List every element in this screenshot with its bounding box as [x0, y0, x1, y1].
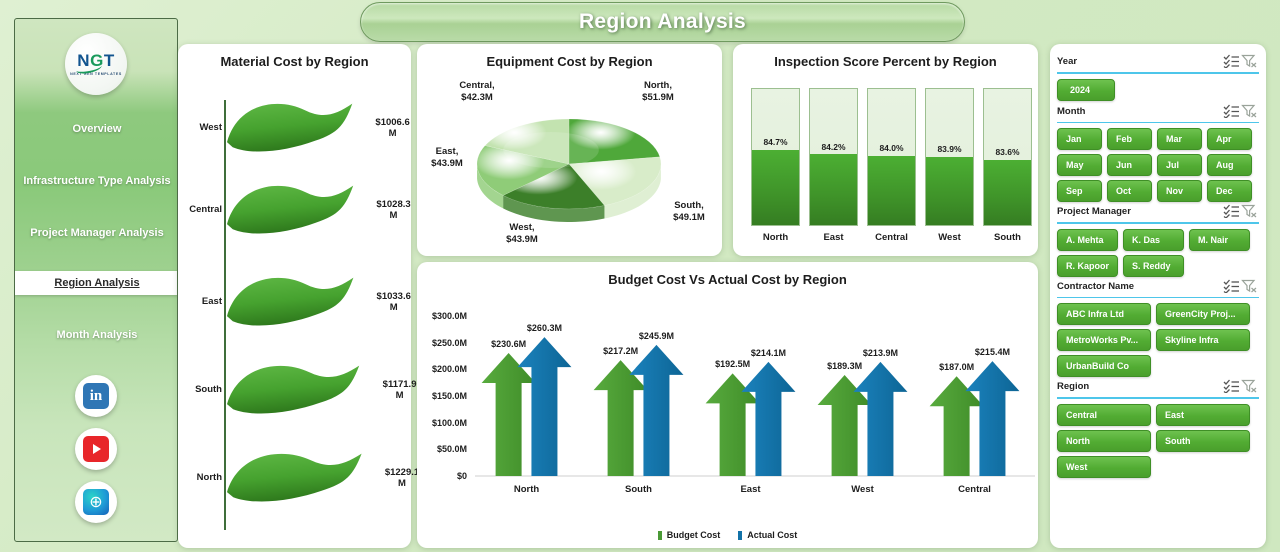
budget-category-label: East	[716, 484, 786, 495]
inspection-bar-fill	[926, 157, 973, 225]
multi-select-icon	[1223, 104, 1240, 118]
filter-header-contractor-name: Contractor Name	[1057, 279, 1259, 294]
filter-chip-nov[interactable]: Nov	[1157, 180, 1202, 202]
filter-title-year: Year	[1057, 56, 1223, 67]
material-region-label: East	[180, 296, 222, 307]
inspection-column: 84.2%East	[809, 88, 858, 243]
filter-header-year: Year	[1057, 54, 1259, 69]
clear-filter-icon[interactable]	[1241, 104, 1259, 119]
filter-chip-m-nair[interactable]: M. Nair	[1189, 229, 1250, 251]
inspection-category-label: East	[809, 232, 858, 243]
pie-label-south: South,$49.1M	[649, 200, 729, 224]
sidebar-item-infrastructure-type-analysis[interactable]: Infrastructure Type Analysis	[15, 171, 178, 191]
filter-chip-may[interactable]: May	[1057, 154, 1102, 176]
filter-chip-east[interactable]: East	[1156, 404, 1250, 426]
material-flag-shape	[225, 178, 355, 242]
budget-category-label: West	[828, 484, 898, 495]
material-region-label: West	[180, 122, 222, 133]
filter-chip-greencity-proj[interactable]: GreenCity Proj...	[1156, 303, 1250, 325]
pie-label-central: Central,$42.3M	[431, 80, 523, 104]
legend-item[interactable]: Budget Cost	[658, 530, 721, 540]
material-cost-card: Material Cost by Region West$1006.6MCent…	[178, 44, 411, 548]
material-cost-row: West$1006.6M	[178, 96, 411, 160]
budget-category-label: South	[604, 484, 674, 495]
inspection-value-label: 83.9%	[926, 144, 973, 154]
filter-divider	[1057, 72, 1259, 74]
pie-label-east: East,$43.9M	[411, 146, 483, 170]
clear-filter-icon[interactable]	[1241, 54, 1259, 69]
inspection-column: 84.0%Central	[867, 88, 916, 243]
inspection-category-label: West	[925, 232, 974, 243]
material-cost-row: South$1171.9M	[178, 358, 411, 422]
clear-filter-icon[interactable]	[1241, 279, 1259, 294]
filter-chip-a-mehta[interactable]: A. Mehta	[1057, 229, 1118, 251]
filter-chip-skyline-infra[interactable]: Skyline Infra	[1156, 329, 1250, 351]
budget-chart-legend: Budget CostActual Cost	[417, 530, 1038, 540]
inspection-category-label: North	[751, 232, 800, 243]
budget-arrow-bar	[741, 362, 795, 476]
sidebar-item-month-analysis[interactable]: Month Analysis	[15, 325, 178, 345]
equipment-pie-chart: North,$51.9MSouth,$49.1MWest,$43.9MEast,…	[417, 72, 722, 254]
material-region-label: North	[180, 472, 222, 483]
equipment-cost-card: Equipment Cost by Region North,$51.9MSou…	[417, 44, 722, 256]
material-cost-row: East$1033.6M	[178, 270, 411, 334]
budget-data-label: $260.3M	[509, 323, 579, 333]
budget-arrow-bar	[930, 376, 984, 476]
social-link-linkedin[interactable]: in	[75, 375, 117, 417]
material-cost-row: Central$1028.3M	[178, 178, 411, 242]
material-cost-title: Material Cost by Region	[178, 44, 411, 69]
budget-vs-actual-card: Budget Cost Vs Actual Cost by Region $0$…	[417, 262, 1038, 548]
equipment-cost-title: Equipment Cost by Region	[417, 44, 722, 69]
multi-select-icon	[1223, 379, 1240, 393]
filter-chip-feb[interactable]: Feb	[1107, 128, 1152, 150]
youtube-icon	[83, 436, 109, 462]
inspection-category-label: Central	[867, 232, 916, 243]
logo-letter-t: T	[104, 51, 115, 70]
pie-label-north: North,$51.9M	[613, 80, 703, 104]
material-value-label: $1006.6M	[362, 117, 424, 139]
legend-label: Actual Cost	[747, 530, 797, 540]
filter-chip-oct[interactable]: Oct	[1107, 180, 1152, 202]
filter-chip-k-das[interactable]: K. Das	[1123, 229, 1184, 251]
filter-divider	[1057, 297, 1259, 299]
filter-chip-s-reddy[interactable]: S. Reddy	[1123, 255, 1184, 277]
filter-chip-urbanbuild-co[interactable]: UrbanBuild Co	[1057, 355, 1151, 377]
budget-y-tick-label: $250.0M	[432, 338, 467, 348]
multi-select-icon	[1223, 54, 1240, 68]
pie-label-west: West,$43.9M	[477, 222, 567, 246]
filter-title-project-manager: Project Manager	[1057, 206, 1223, 217]
inspection-value-label: 84.2%	[810, 142, 857, 152]
budget-arrow-bar	[629, 345, 683, 476]
budget-arrow-bar	[594, 360, 648, 476]
filter-chip-north[interactable]: North	[1057, 430, 1151, 452]
filter-title-month: Month	[1057, 106, 1223, 117]
budget-y-tick-label: $300.0M	[432, 311, 467, 321]
page-header: Region Analysis	[360, 2, 965, 42]
budget-arrow-bar	[853, 362, 907, 476]
inspection-score-title: Inspection Score Percent by Region	[733, 44, 1038, 69]
sidebar-item-project-manager-analysis[interactable]: Project Manager Analysis	[15, 223, 178, 243]
filter-panel: Year 2024Month JanFebMarAprMayJunJulAugS…	[1050, 44, 1266, 548]
inspection-value-label: 84.7%	[752, 137, 799, 147]
inspection-column: 84.7%North	[751, 88, 800, 243]
material-value-label: $1028.3M	[363, 199, 425, 221]
filter-header-project-manager: Project Manager	[1057, 204, 1259, 219]
inspection-bar-fill	[752, 150, 799, 225]
budget-data-label: $245.9M	[621, 331, 691, 341]
budget-y-tick-label: $200.0M	[432, 364, 467, 374]
clear-filter-icon	[1241, 104, 1258, 118]
filter-chip-apr[interactable]: Apr	[1207, 128, 1252, 150]
inspection-bar: 83.6%	[983, 88, 1032, 226]
filter-chip-jul[interactable]: Jul	[1157, 154, 1202, 176]
inspection-value-label: 83.6%	[984, 147, 1031, 157]
material-cost-row: North$1229.1M	[178, 446, 411, 510]
inspection-bar-fill	[868, 156, 915, 225]
filter-chip-jan[interactable]: Jan	[1057, 128, 1102, 150]
multi-select-icon[interactable]	[1223, 104, 1241, 119]
filter-divider	[1057, 397, 1259, 399]
logo: NGT NEXT GEN TEMPLATES	[65, 33, 127, 95]
globe-icon: ⊕	[83, 489, 109, 515]
filter-divider	[1057, 122, 1259, 124]
legend-swatch	[738, 531, 742, 540]
sidebar: NGT NEXT GEN TEMPLATES Overview Infrastr…	[14, 18, 178, 542]
material-region-label: South	[180, 384, 222, 395]
sidebar-item-overview[interactable]: Overview	[15, 119, 178, 139]
filter-chips-region: CentralEastNorthSouthWest	[1057, 404, 1259, 478]
clear-filter-icon	[1241, 279, 1258, 293]
filter-chips-year: 2024	[1057, 79, 1259, 102]
filter-chip-aug[interactable]: Aug	[1207, 154, 1252, 176]
budget-data-label: $230.6M	[474, 339, 544, 349]
filter-chip-dec[interactable]: Dec	[1207, 180, 1252, 202]
material-value-label: $1033.6M	[363, 291, 425, 313]
clear-filter-icon[interactable]	[1241, 379, 1259, 394]
budget-y-tick-label: $50.0M	[437, 444, 467, 454]
filter-title-contractor-name: Contractor Name	[1057, 281, 1223, 292]
filter-chip-r-kapoor[interactable]: R. Kapoor	[1057, 255, 1118, 277]
budget-arrow-bar	[965, 361, 1019, 476]
clear-filter-icon	[1241, 379, 1258, 393]
budget-data-label: $217.2M	[586, 346, 656, 356]
multi-select-icon[interactable]	[1223, 54, 1241, 69]
clear-filter-icon	[1241, 54, 1258, 68]
inspection-bar: 84.7%	[751, 88, 800, 226]
legend-item[interactable]: Actual Cost	[738, 530, 797, 540]
legend-swatch	[658, 531, 662, 540]
material-flag-shape	[225, 270, 355, 334]
social-link-youtube[interactable]	[75, 428, 117, 470]
filter-chip-south[interactable]: South	[1156, 430, 1250, 452]
multi-select-icon	[1223, 204, 1240, 218]
inspection-category-label: South	[983, 232, 1032, 243]
inspection-bar-fill	[984, 160, 1031, 225]
filter-chip-jun[interactable]: Jun	[1107, 154, 1152, 176]
material-region-label: Central	[180, 204, 222, 215]
budget-y-tick-label: $100.0M	[432, 418, 467, 428]
inspection-bar: 84.0%	[867, 88, 916, 226]
budget-category-label: Central	[940, 484, 1010, 495]
multi-select-icon[interactable]	[1223, 204, 1241, 219]
filter-chips-month: JanFebMarAprMayJunJulAugSepOctNovDec	[1057, 128, 1259, 202]
budget-y-tick-label: $0	[457, 471, 467, 481]
budget-data-label: $192.5M	[698, 359, 768, 369]
multi-select-icon[interactable]	[1223, 379, 1241, 394]
material-flag-shape	[225, 446, 363, 510]
filter-chip-west[interactable]: West	[1057, 456, 1151, 478]
inspection-column: 83.6%South	[983, 88, 1032, 243]
material-flag-shape	[225, 96, 354, 160]
inspection-value-label: 84.0%	[868, 143, 915, 153]
material-flag-shape	[225, 358, 361, 422]
inspection-column: 83.9%West	[925, 88, 974, 243]
inspection-score-card: Inspection Score Percent by Region 84.7%…	[733, 44, 1038, 256]
budget-data-label: $213.9M	[845, 348, 915, 358]
filter-chips-contractor-name: ABC Infra LtdGreenCity Proj...MetroWorks…	[1057, 303, 1259, 377]
legend-label: Budget Cost	[667, 530, 721, 540]
budget-vs-actual-title: Budget Cost Vs Actual Cost by Region	[417, 262, 1038, 287]
clear-filter-icon	[1241, 204, 1258, 218]
filter-divider	[1057, 222, 1259, 224]
filter-chip-sep[interactable]: Sep	[1057, 180, 1102, 202]
budget-data-label: $189.3M	[810, 361, 880, 371]
budget-arrow-bar	[517, 337, 571, 476]
budget-vs-actual-chart: $0$50.0M$100.0M$150.0M$200.0M$250.0M$300…	[417, 298, 1038, 513]
budget-data-label: $214.1M	[733, 348, 803, 358]
budget-arrow-bar	[482, 353, 536, 476]
filter-chip-abc-infra-ltd[interactable]: ABC Infra Ltd	[1057, 303, 1151, 325]
page-title: Region Analysis	[579, 10, 746, 34]
filter-chip-mar[interactable]: Mar	[1157, 128, 1202, 150]
budget-y-tick-label: $150.0M	[432, 391, 467, 401]
inspection-bar: 84.2%	[809, 88, 858, 226]
multi-select-icon[interactable]	[1223, 279, 1241, 294]
budget-category-label: North	[492, 484, 562, 495]
filter-chips-project-manager: A. MehtaK. DasM. NairR. KapoorS. Reddy	[1057, 229, 1259, 277]
filter-chip-2024[interactable]: 2024	[1057, 79, 1115, 101]
sidebar-item-region-analysis[interactable]: Region Analysis	[15, 271, 178, 295]
multi-select-icon	[1223, 279, 1240, 293]
filter-header-month: Month	[1057, 104, 1259, 119]
filter-header-region: Region	[1057, 379, 1259, 394]
inspection-bar: 83.9%	[925, 88, 974, 226]
clear-filter-icon[interactable]	[1241, 204, 1259, 219]
social-link-website[interactable]: ⊕	[75, 481, 117, 523]
filter-chip-metroworks-pv[interactable]: MetroWorks Pv...	[1057, 329, 1151, 351]
inspection-bar-fill	[810, 154, 857, 225]
filter-title-region: Region	[1057, 381, 1223, 392]
linkedin-icon: in	[83, 383, 109, 409]
filter-chip-central[interactable]: Central	[1057, 404, 1151, 426]
budget-data-label: $215.4M	[957, 347, 1027, 357]
budget-data-label: $187.0M	[922, 362, 992, 372]
